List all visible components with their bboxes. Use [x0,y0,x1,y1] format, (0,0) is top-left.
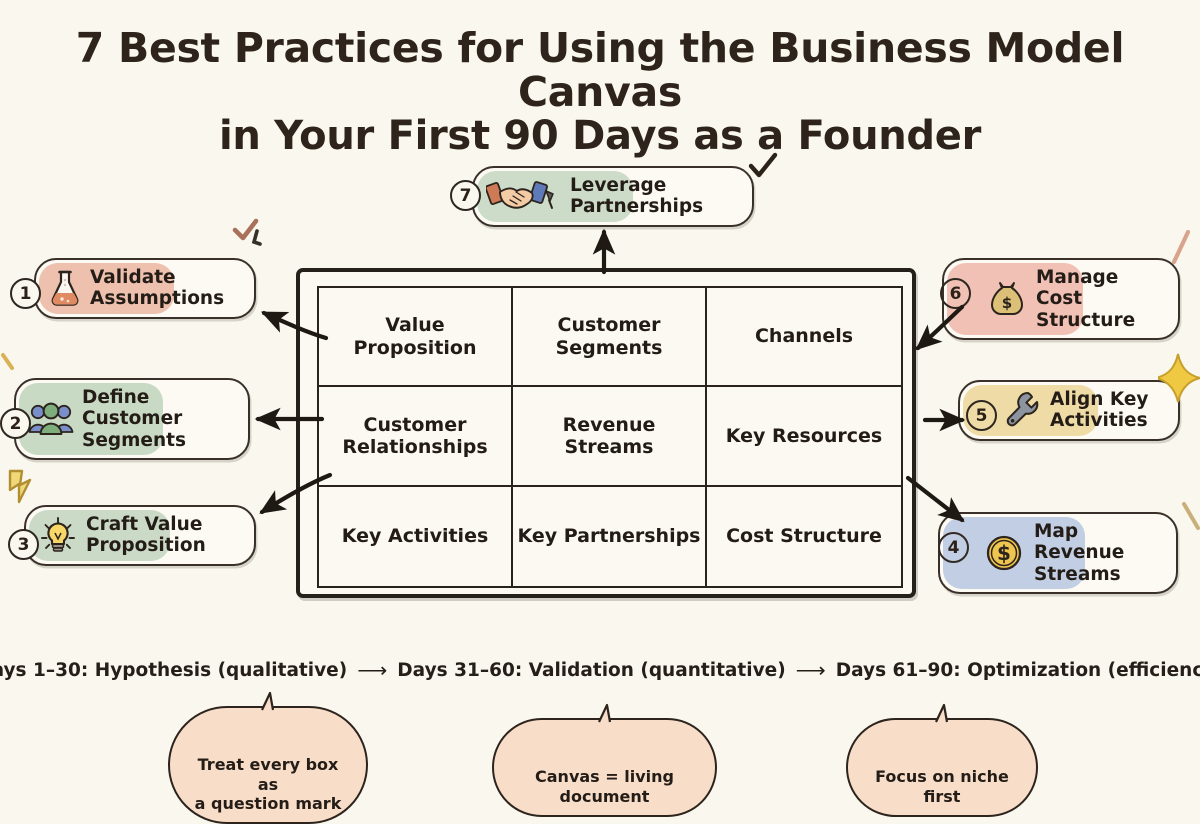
tick-doodle-left [0,352,22,383]
practice-label-3: Craft Value Proposition [86,514,206,557]
practice-label-1: Validate Assumptions [90,267,224,310]
canvas-cell-customer-segments: Customer Segments [513,288,707,387]
practice-label-7: Leverage Partnerships [570,175,703,218]
canvas-grid: Value Proposition Customer Segments Chan… [317,286,903,588]
practice-pill-2[interactable]: 2 Define Customer Segments [14,378,250,460]
practice-pill-3[interactable]: 3 Craft Value Proposition [24,505,256,566]
handshake-icon [486,178,562,214]
timeline-phase-2: Days 31–60: Validation (quantitative) [397,660,785,681]
tip-bubble-3: Focus on niche first [846,718,1038,817]
flask-icon [48,269,82,307]
infographic-canvas: 7 Best Practices for Using the Business … [0,0,1200,800]
practice-label-2: Define Customer Segments [82,387,186,451]
canvas-cell-revenue-streams: Revenue Streams [513,387,707,486]
lightbulb-icon [38,515,78,555]
title-line-1: 7 Best Practices for Using the Business … [0,26,1200,115]
bubble-tail-icon [933,703,953,723]
practice-label-5: Align Key Activities [1050,389,1148,432]
business-model-canvas: Value Proposition Customer Segments Chan… [296,268,916,598]
check-mark-doodle-partnerships [748,152,780,187]
canvas-cell-channels: Channels [707,288,901,387]
practice-number-1: 1 [10,278,41,309]
practice-number-3: 3 [8,529,39,560]
timeline-separator-1: ⟶ [357,660,387,681]
practice-number-2: 2 [0,408,31,439]
stroke-doodle-top-right [1170,228,1200,273]
svg-text:$: $ [997,541,1011,565]
bubble-tail-icon [259,691,279,711]
practice-number-4: 4 [938,532,969,563]
practice-pill-5[interactable]: 5 Align Key Activities [958,380,1180,441]
sparkle-doodle-right [1158,352,1200,409]
practice-pill-7[interactable]: 7 Leverage Partnerships [472,166,754,227]
timeline-separator-2: ⟶ [796,660,826,681]
svg-text:$: $ [1002,294,1012,312]
canvas-cell-customer-relationships: Customer Relationships [319,387,513,486]
practice-number-6: 6 [940,278,971,309]
practice-pill-1[interactable]: 1 Validate Assumptions [34,258,256,319]
practice-pill-6[interactable]: 6 $ Manage Cost Structure [942,258,1180,340]
people-group-icon [28,401,74,437]
title-line-2: in Your First 90 Days as a Founder [0,115,1200,158]
wrench-icon [1004,391,1040,429]
lightning-bolt-doodle [4,468,38,523]
practice-number-5: 5 [966,400,997,431]
timeline-phase-3: Days 61–90: Optimization (efficiency) [836,660,1200,681]
canvas-cell-key-resources: Key Resources [707,387,901,486]
timeline-phase-1: Days 1–30: Hypothesis (qualitative) [0,660,347,681]
bubble-tail-icon [596,703,616,723]
money-coin-icon: $ [984,533,1024,573]
tip-bubble-1: Treat every box as a question mark [168,706,368,824]
tip-bubble-2: Canvas = living document [492,718,717,817]
check-mark-doodle-top [232,218,270,257]
ninety-day-timeline: Days 1–30: Hypothesis (qualitative) ⟶ Da… [0,660,1200,681]
practice-label-4: Map Revenue Streams [1034,521,1162,585]
page-title: 7 Best Practices for Using the Business … [0,26,1200,158]
canvas-cell-key-activities: Key Activities [319,487,513,586]
canvas-cell-cost-structure: Cost Structure [707,487,901,586]
practice-pill-4[interactable]: 4 $ Map Revenue Streams [938,512,1178,594]
practice-label-6: Manage Cost Structure [1036,267,1164,331]
practice-number-7: 7 [450,180,481,211]
tip-bubble-1-text: Treat every box as a question mark [195,755,342,812]
canvas-cell-value-proposition: Value Proposition [319,288,513,387]
canvas-cell-key-partnerships: Key Partnerships [513,487,707,586]
arrow-doodle-bottom-right [1180,500,1200,545]
money-bag-icon: $ [988,280,1026,318]
